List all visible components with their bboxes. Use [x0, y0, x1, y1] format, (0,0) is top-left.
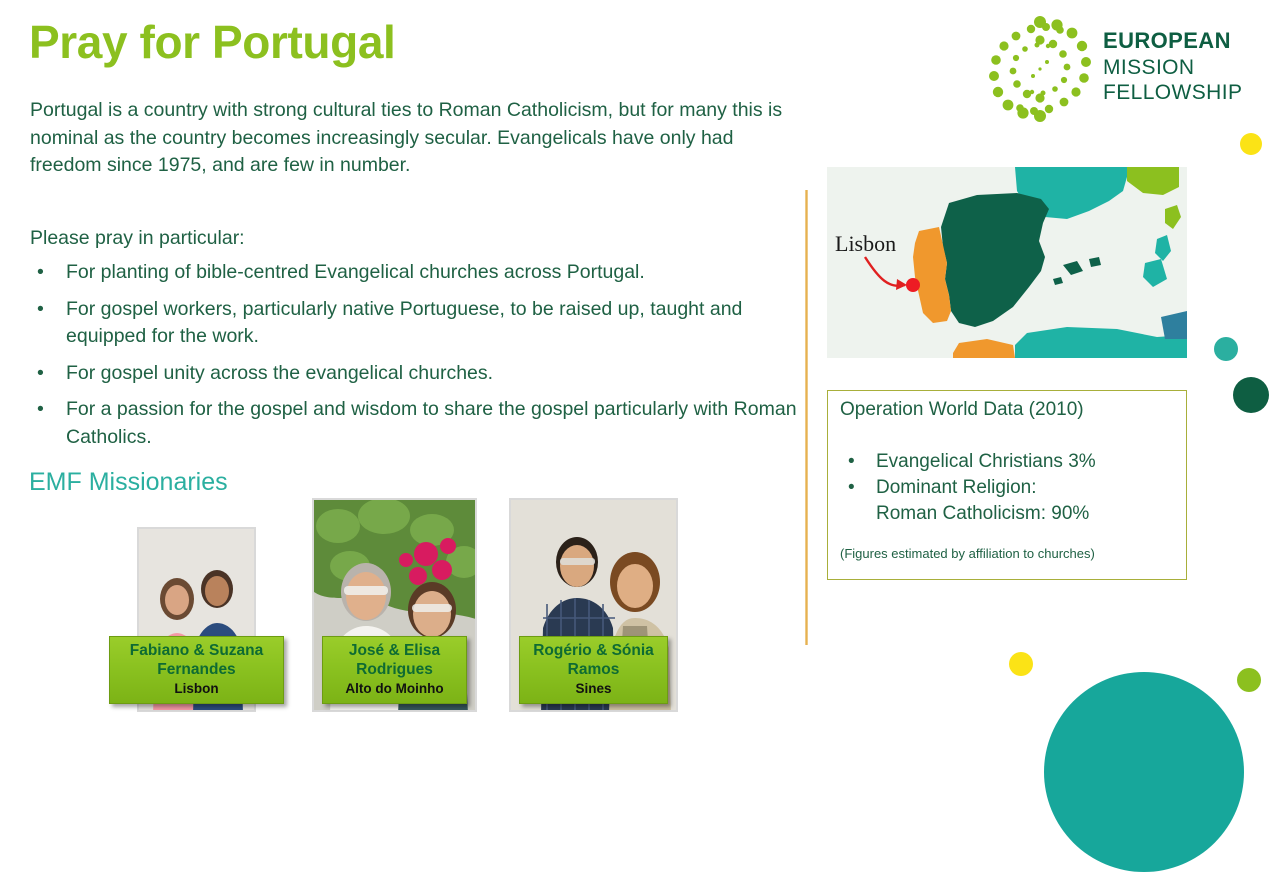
bullet-icon: •	[37, 396, 44, 424]
list-item: • For gospel workers, particularly nativ…	[30, 296, 805, 351]
bullet-icon: •	[848, 449, 855, 475]
decorative-circle-teal-large	[1044, 672, 1244, 872]
logo-wordmark: EUROPEAN MISSION FELLOWSHIP	[1103, 28, 1242, 106]
list-item: • For planting of bible-centred Evangeli…	[30, 259, 805, 287]
missionary-nameplate: Rogério & Sónia Ramos Sines	[519, 636, 668, 704]
decorative-circle-teal-mid	[1214, 337, 1238, 361]
logo-line-european: EUROPEAN	[1103, 28, 1242, 55]
list-item: • Evangelical Christians 3%	[840, 449, 1175, 475]
please-pray-label: Please pray in particular:	[30, 227, 245, 250]
list-item: • For a passion for the gospel and wisdo…	[30, 396, 805, 451]
missionary-card: Rogério & Sónia Ramos Sines	[509, 498, 678, 712]
decorative-circle-yellow-bottom	[1009, 652, 1033, 676]
missionary-place: Alto do Moinho	[325, 680, 464, 698]
prayer-point-text: For planting of bible-centred Evangelica…	[66, 261, 645, 283]
prayer-point-text: For gospel unity across the evangelical …	[66, 362, 493, 384]
emf-logo: EUROPEAN MISSION FELLOWSHIP	[985, 10, 1270, 125]
bullet-icon: •	[37, 259, 44, 287]
bullet-icon: •	[37, 296, 44, 324]
lisbon-map-label: Lisbon	[835, 231, 896, 257]
missionary-nameplate: José & Elisa Rodrigues Alto do Moinho	[322, 636, 467, 704]
decorative-circle-green-bottom	[1237, 668, 1261, 692]
vertical-divider	[805, 190, 808, 645]
list-item: • For gospel unity across the evangelica…	[30, 360, 805, 388]
data-box-note: (Figures estimated by affiliation to chu…	[840, 546, 1095, 561]
missionary-names: José & Elisa Rodrigues	[325, 641, 464, 679]
data-box-item-text: Dominant Religion: Roman Catholicism: 90…	[876, 477, 1089, 524]
prayer-points-list: • For planting of bible-centred Evangeli…	[30, 259, 805, 460]
intro-paragraph: Portugal is a country with strong cultur…	[30, 97, 800, 180]
bullet-icon: •	[37, 360, 44, 388]
missionary-place: Lisbon	[112, 680, 281, 698]
decorative-circle-yellow-top	[1240, 133, 1262, 155]
operation-world-data-box: Operation World Data (2010) • Evangelica…	[827, 390, 1187, 580]
missionary-names: Rogério & Sónia Ramos	[522, 641, 665, 679]
logo-line-fellowship: FELLOWSHIP	[1103, 80, 1242, 106]
list-item: • Dominant Religion: Roman Catholicism: …	[840, 475, 1175, 527]
prayer-point-text: For gospel workers, particularly native …	[66, 298, 742, 348]
bullet-icon: •	[848, 475, 855, 501]
data-box-item-text: Evangelical Christians 3%	[876, 451, 1096, 472]
spiral-dots-logo-icon	[985, 14, 1095, 124]
logo-line-mission: MISSION	[1103, 55, 1242, 81]
data-box-title: Operation World Data (2010)	[840, 399, 1084, 421]
prayer-point-text: For a passion for the gospel and wisdom …	[66, 398, 797, 448]
missionary-nameplate: Fabiano & Suzana Fernandes Lisbon	[109, 636, 284, 704]
decorative-circle-green-dark	[1233, 377, 1269, 413]
iberia-map	[827, 167, 1187, 358]
missionary-card: Fabiano & Suzana Fernandes Lisbon	[137, 527, 256, 712]
emf-missionaries-heading: EMF Missionaries	[29, 468, 228, 497]
page-title: Pray for Portugal	[29, 18, 395, 66]
missionary-names: Fabiano & Suzana Fernandes	[112, 641, 281, 679]
missionary-card: José & Elisa Rodrigues Alto do Moinho	[312, 498, 477, 712]
missionary-place: Sines	[522, 680, 665, 698]
data-box-list: • Evangelical Christians 3% • Dominant R…	[840, 449, 1175, 527]
